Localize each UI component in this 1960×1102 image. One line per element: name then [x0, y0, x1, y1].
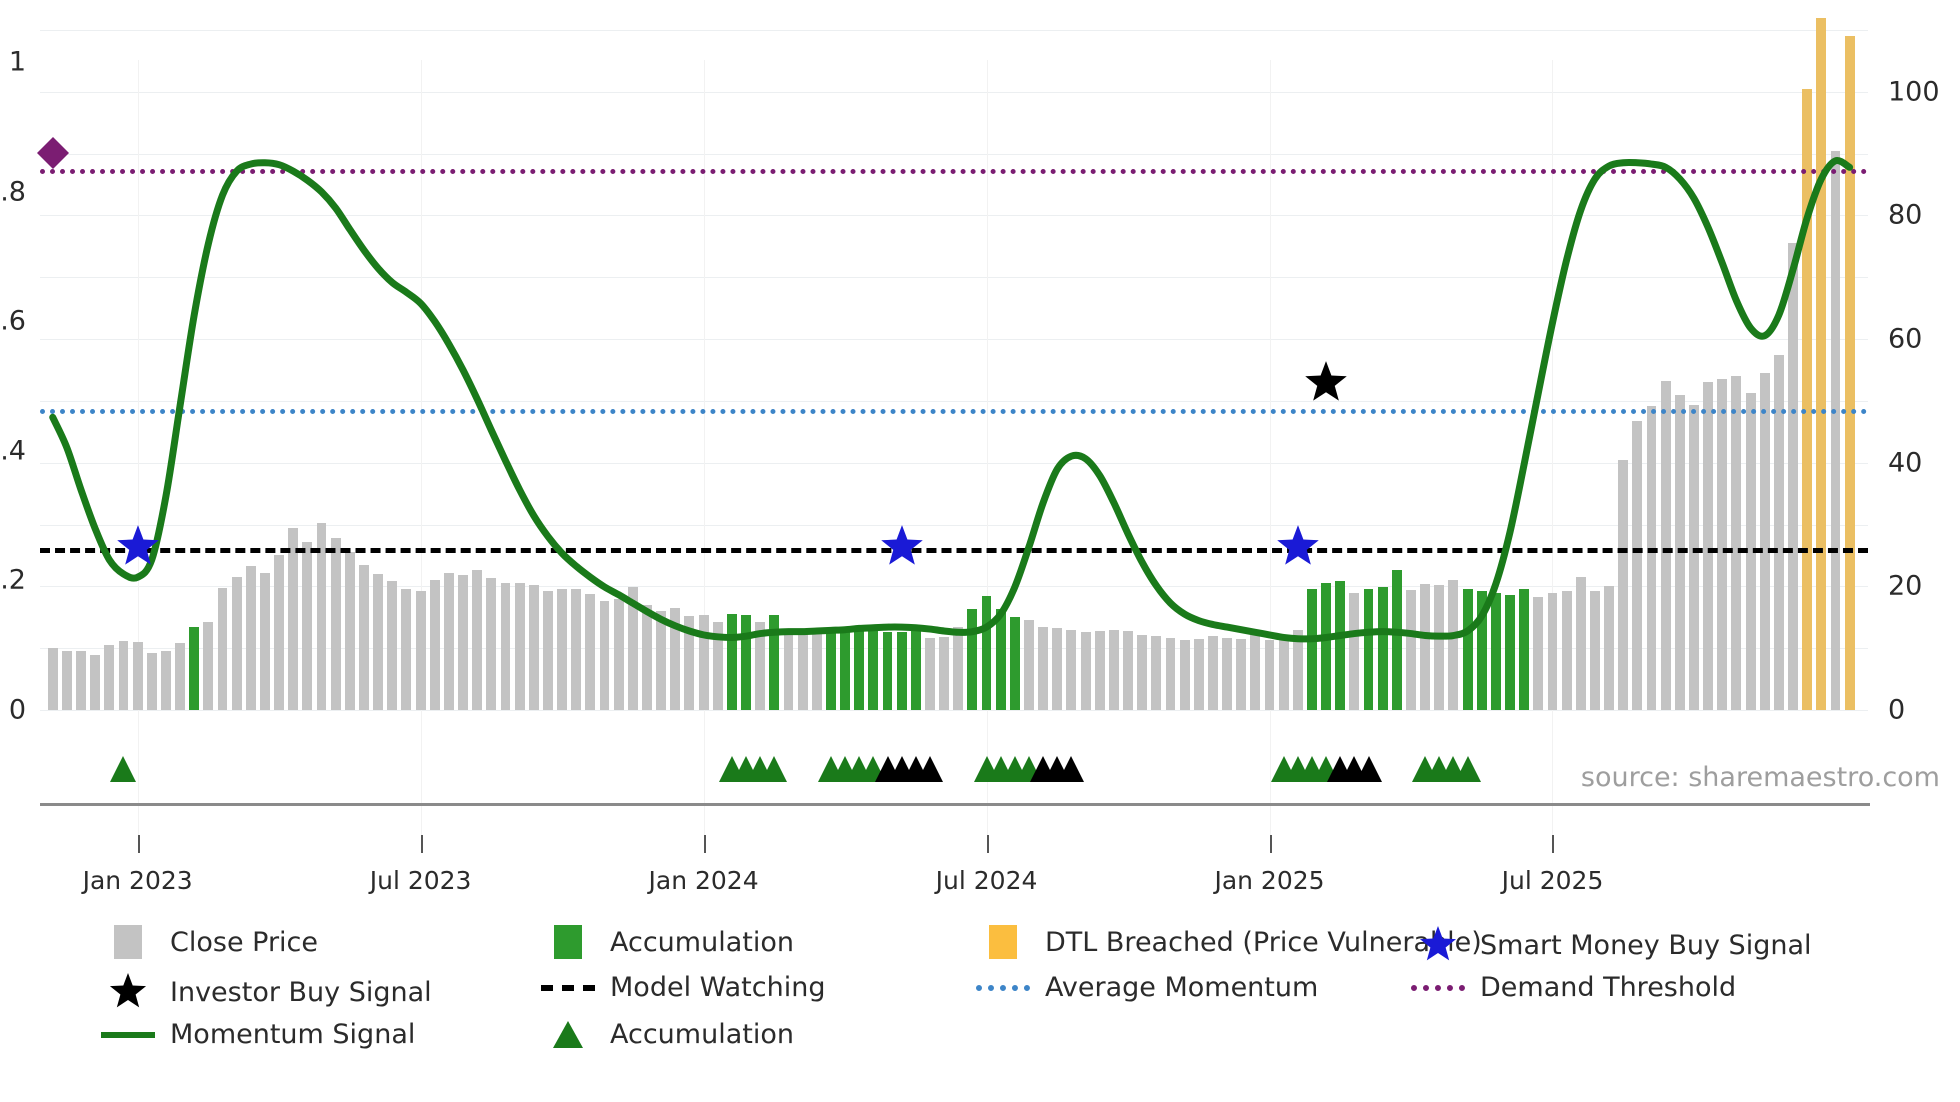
demand-threshold-marker [37, 153, 69, 169]
y-tick-left: 0.2 [0, 565, 26, 596]
y-tick-left: 0.8 [0, 176, 26, 207]
legend-item-momentum-signal[interactable]: Momentum Signal [100, 1019, 415, 1050]
x-tick-label: Jul 2023 [370, 866, 472, 895]
legend-label: Accumulation [610, 1019, 794, 1050]
legend-label: Momentum Signal [170, 1019, 415, 1050]
legend-label: Close Price [170, 927, 318, 958]
legend-item-close-price[interactable]: Close Price [100, 925, 318, 959]
legend-label: Model Watching [610, 972, 825, 1003]
y-tick-right: 0 [1888, 695, 1905, 726]
x-tick-mark [987, 835, 989, 853]
accumulation-triangle [1455, 756, 1481, 782]
x-tick-mark [704, 835, 706, 853]
legend-swatch-dotted [976, 985, 1030, 991]
legend-row: Investor Buy SignalModel WatchingAverage… [100, 972, 1900, 1003]
legend-item-accumulation[interactable]: Accumulation [540, 1019, 794, 1050]
y-tick-left: 0.4 [0, 435, 26, 466]
chart-canvas: 00.20.40.60.81 020406080100 Jan 2023Jul … [0, 0, 1960, 1102]
plot-area: 00.20.40.60.81 020406080100 Jan 2023Jul … [40, 30, 1868, 710]
x-tick-mark [421, 835, 423, 853]
legend-row: Close PriceAccumulationDTL Breached (Pri… [100, 925, 1900, 956]
legend-item-smart-money-buy-signal[interactable]: Smart Money Buy Signal [1410, 925, 1812, 965]
accumulation-triangle [110, 756, 136, 782]
y-tick-right: 20 [1888, 571, 1922, 602]
legend-item-demand-threshold[interactable]: Demand Threshold [1410, 972, 1736, 1003]
smart-money-buy-star [115, 524, 161, 570]
legend-item-dtl-breached-price-vulnerable[interactable]: DTL Breached (Price Vulnerable) [975, 925, 1482, 959]
momentum-line-svg [40, 30, 1868, 710]
y-tick-left: 0.6 [0, 306, 26, 337]
x-tick-mark [1270, 835, 1272, 853]
legend-swatch-square [989, 925, 1017, 959]
smart-money-buy-star [879, 524, 925, 570]
legend-swatch-square [114, 925, 142, 959]
x-tick-label: Jan 2025 [1214, 866, 1324, 895]
legend-item-average-momentum[interactable]: Average Momentum [975, 972, 1318, 1003]
y-tick-right: 60 [1888, 324, 1922, 355]
y-tick-left: 1 [9, 47, 26, 78]
legend-swatch-dashed [541, 985, 595, 991]
x-tick-label: Jan 2023 [83, 866, 193, 895]
legend-item-investor-buy-signal[interactable]: Investor Buy Signal [100, 972, 432, 1012]
y-tick-right: 80 [1888, 200, 1922, 231]
x-tick-label: Jul 2024 [936, 866, 1038, 895]
investor-buy-star [1303, 360, 1349, 406]
legend-swatch-line [101, 1032, 155, 1038]
legend-item-accumulation[interactable]: Accumulation [540, 925, 794, 959]
legend-label: Investor Buy Signal [170, 977, 432, 1008]
demand-threshold-marker [37, 137, 69, 153]
star-icon [108, 972, 148, 1012]
smart-money-buy-star [1275, 524, 1321, 570]
legend-swatch-square [554, 925, 582, 959]
chart-legend: Close PriceAccumulationDTL Breached (Pri… [100, 925, 1900, 1066]
accumulation-triangle [761, 756, 787, 782]
investor-triangle [917, 756, 943, 782]
gridline [40, 710, 1868, 711]
x-tick-mark [1552, 835, 1554, 853]
legend-label: Average Momentum [1045, 972, 1318, 1003]
y-tick-right: 100 [1888, 76, 1940, 107]
x-tick-label: Jul 2025 [1502, 866, 1604, 895]
y-tick-right: 40 [1888, 447, 1922, 478]
legend-item-model-watching[interactable]: Model Watching [540, 972, 825, 1003]
x-axis-line [40, 803, 1870, 806]
x-tick-label: Jan 2024 [649, 866, 759, 895]
star-icon [1418, 925, 1458, 965]
y-tick-left: 0 [9, 695, 26, 726]
legend-swatch-dotted [1411, 985, 1465, 991]
momentum-line-path [53, 160, 1850, 638]
legend-label: Demand Threshold [1480, 972, 1736, 1003]
triangle-icon [553, 1021, 583, 1048]
legend-row: Momentum SignalAccumulation [100, 1019, 1900, 1050]
source-note: source: sharemaestro.com [1581, 762, 1940, 793]
legend-label: Smart Money Buy Signal [1480, 930, 1812, 961]
investor-triangle [1356, 756, 1382, 782]
investor-triangle [1058, 756, 1084, 782]
x-tick-mark [138, 835, 140, 853]
legend-label: Accumulation [610, 927, 794, 958]
